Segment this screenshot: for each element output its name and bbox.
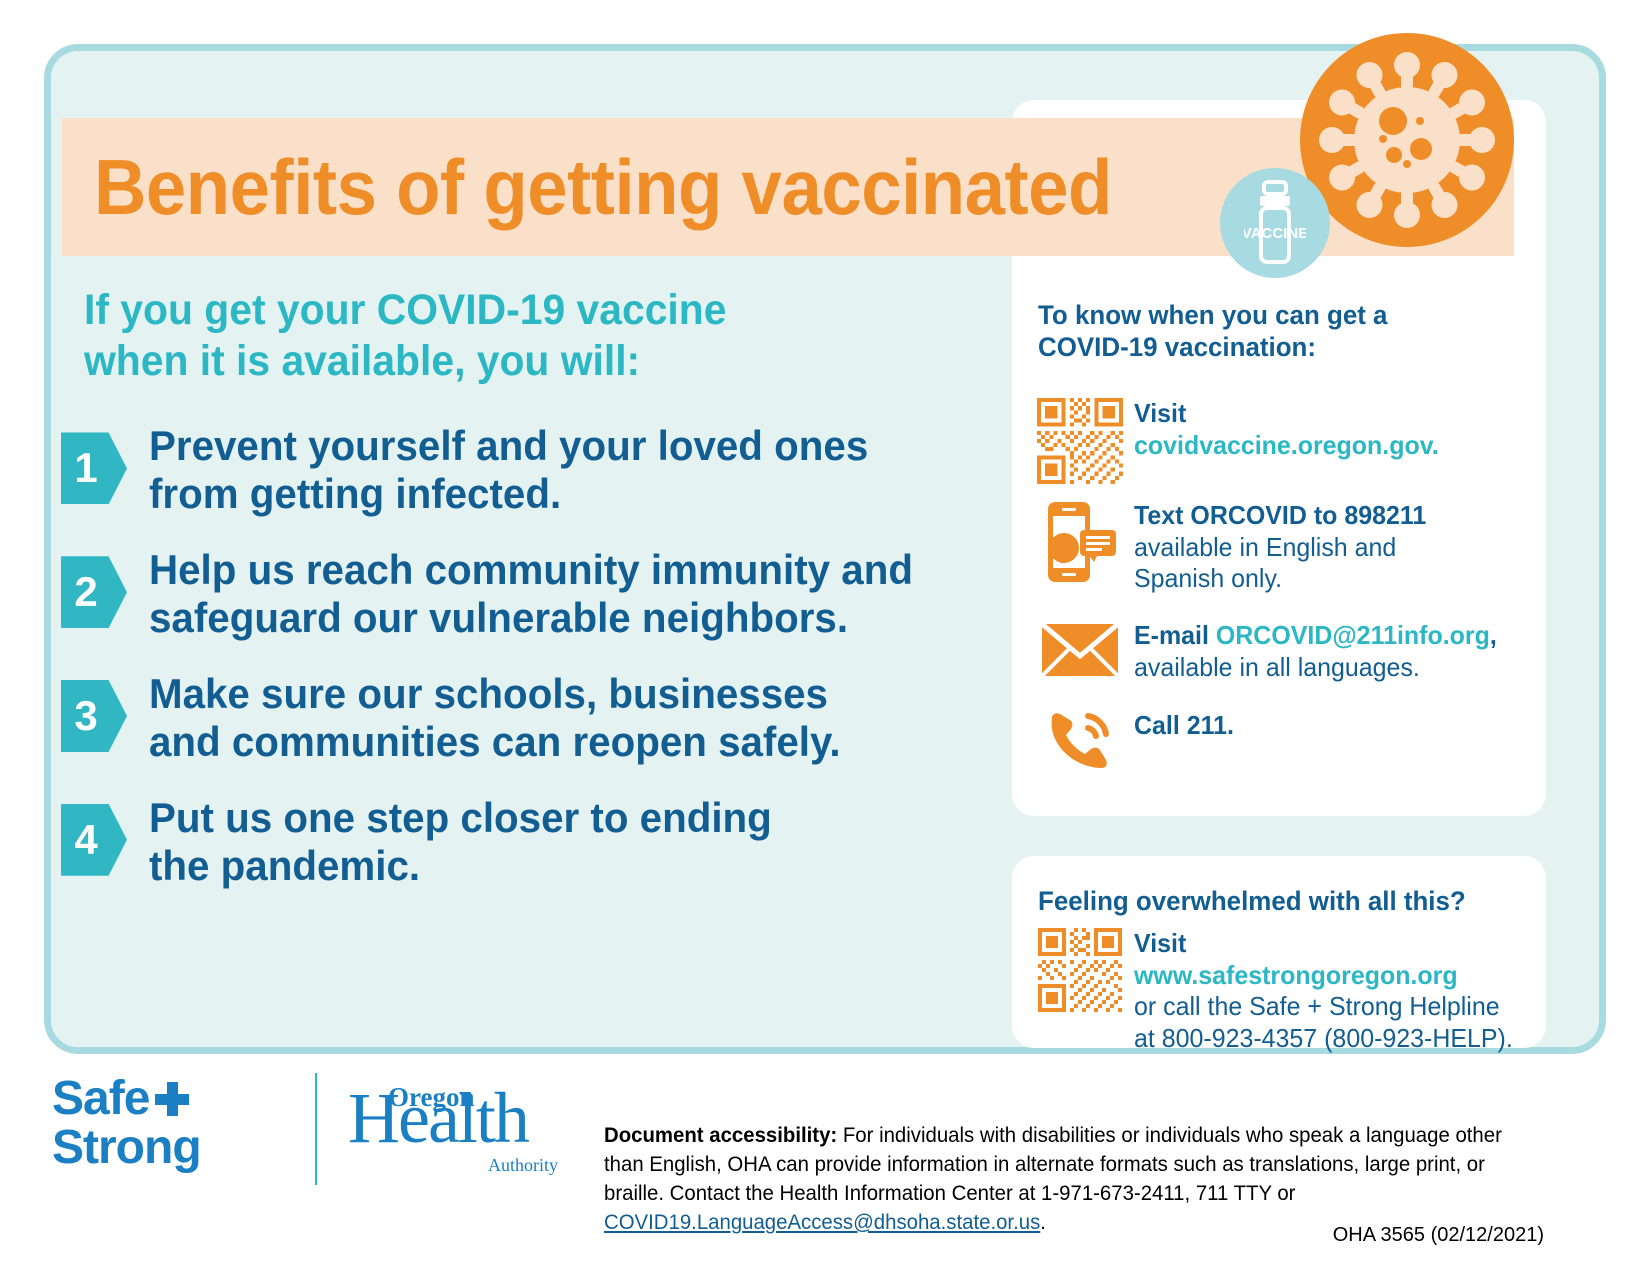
safe-strong-logo: Safe Strong [52,1075,292,1173]
intro-line-2: when it is available, you will: [84,336,918,387]
qr-code-icon[interactable] [1032,398,1128,484]
visit-label: Visit [1134,398,1439,430]
list-item-line-2: from getting infected. [149,470,868,518]
number-badge: 3 [61,680,127,752]
text-orcovid-row: Text ORCOVID to 898211 available in Engl… [1032,500,1532,595]
vaccine-label: VACCINE [1244,225,1306,242]
list-item: 1 Prevent yourself and your loved ones f… [62,422,962,518]
list-item-line-1: Prevent yourself and your loved ones [149,422,868,470]
badge-number: 4 [61,804,111,876]
safe-word: Safe [52,1072,149,1125]
accessibility-statement: Document accessibility: For individuals … [604,1122,1516,1238]
oha-document-code: OHA 3565 (02/12/2021) [604,1224,1544,1247]
list-item-text: Make sure our schools, businesses and co… [149,670,841,766]
list-item-line-1: Make sure our schools, businesses [149,670,841,718]
support-heading: Feeling overwhelmed with all this? [1038,886,1518,918]
list-item: 2 Help us reach community immunity and s… [62,546,962,642]
list-item: 4 Put us one step closer to ending the p… [62,794,962,890]
badge-number: 1 [61,432,111,504]
text-orcovid-bold: Text ORCOVID to 898211 [1134,500,1426,532]
safestrong-text: Visit www.safestrongoregon.org or call t… [1134,928,1516,1055]
call-row[interactable]: Call 211. [1032,710,1532,772]
oha-authority-word: Authority [488,1156,558,1174]
safestrong-url[interactable]: www.safestrongoregon.org [1134,960,1458,990]
email-address[interactable]: ORCOVID@211info.org [1216,620,1490,650]
safe-strong-line-1: Safe [52,1075,292,1124]
email-row[interactable]: E-mail ORCOVID@211info.org, available in… [1032,620,1532,683]
list-item-text: Help us reach community immunity and saf… [149,546,913,642]
left-column: If you get your COVID-19 vaccine when it… [62,285,962,917]
oha-oregon-word: Oregon [388,1084,475,1111]
list-item-line-1: Help us reach community immunity and [149,546,913,594]
list-item-text: Put us one step closer to ending the pan… [149,794,772,890]
phone-call-icon[interactable] [1032,710,1128,772]
safestrong-line-1: Visit www.safestrongoregon.org [1134,928,1516,991]
visit-url-line: covidvaccine.oregon.gov. [1134,430,1439,462]
email-text: E-mail ORCOVID@211info.org, available in… [1134,620,1497,683]
qr-code-icon[interactable] [1032,928,1128,1012]
email-comma: , [1490,620,1497,650]
footer-divider [315,1073,317,1185]
phone-sms-icon [1032,500,1128,586]
covidvaccine-url[interactable]: covidvaccine.oregon.gov [1134,430,1432,460]
call-label: Call 211. [1134,710,1234,742]
vaccination-heading-line-2: COVID-19 vaccination: [1038,332,1518,364]
vaccine-vial-icon: VACCINE [1220,168,1330,278]
text-orcovid-line-2: available in English and [1134,532,1426,564]
intro-text: If you get your COVID-19 vaccine when it… [84,285,918,386]
visit-period: . [1432,430,1439,460]
badge-number: 3 [61,680,111,752]
badge-number: 2 [61,556,111,628]
email-line-2: available in all languages. [1134,652,1497,684]
list-item-line-2: the pandemic. [149,842,772,890]
list-item-line-2: and communities can reopen safely. [149,718,841,766]
list-item-line-2: safeguard our vulnerable neighbors. [149,594,913,642]
poster-root: Benefits of getting vaccinated [0,0,1650,1275]
vaccination-info-heading: To know when you can get a COVID-19 vacc… [1038,300,1518,364]
call-text: Call 211. [1134,710,1234,742]
accessibility-label: Document accessibility: [604,1124,837,1147]
list-item: 3 Make sure our schools, businesses and … [62,670,962,766]
safe-strong-line-2: Strong [52,1124,292,1173]
number-badge: 1 [61,432,127,504]
vaccination-heading-line-1: To know when you can get a [1038,300,1518,332]
list-item-text: Prevent yourself and your loved ones fro… [149,422,868,518]
benefits-list: 1 Prevent yourself and your loved ones f… [62,422,962,889]
number-badge: 2 [61,556,127,628]
envelope-icon[interactable] [1032,620,1128,680]
safestrong-line-3: at 800-923-4357 (800-923-HELP). [1134,1023,1516,1055]
safestrong-line-2: or call the Safe + Strong Helpline [1134,991,1516,1023]
email-line-1: E-mail ORCOVID@211info.org, [1134,620,1497,652]
plus-icon [155,1082,189,1116]
text-orcovid-text: Text ORCOVID to 898211 available in Engl… [1134,500,1426,595]
intro-line-1: If you get your COVID-19 vaccine [84,285,918,336]
safestrong-visit-label: Visit [1134,928,1186,958]
number-badge: 4 [61,804,127,876]
text-orcovid-line-3: Spanish only. [1134,563,1426,595]
email-label: E-mail [1134,620,1209,650]
coronavirus-icon [1300,33,1514,247]
visit-website-row[interactable]: Visit covidvaccine.oregon.gov. [1032,398,1532,484]
visit-text: Visit covidvaccine.oregon.gov. [1134,398,1439,461]
oregon-health-authority-logo: Health Oregon Authority [348,1068,578,1188]
safestrong-row[interactable]: Visit www.safestrongoregon.org or call t… [1032,928,1532,1055]
page-title: Benefits of getting vaccinated [94,142,1112,233]
list-item-line-1: Put us one step closer to ending [149,794,772,842]
